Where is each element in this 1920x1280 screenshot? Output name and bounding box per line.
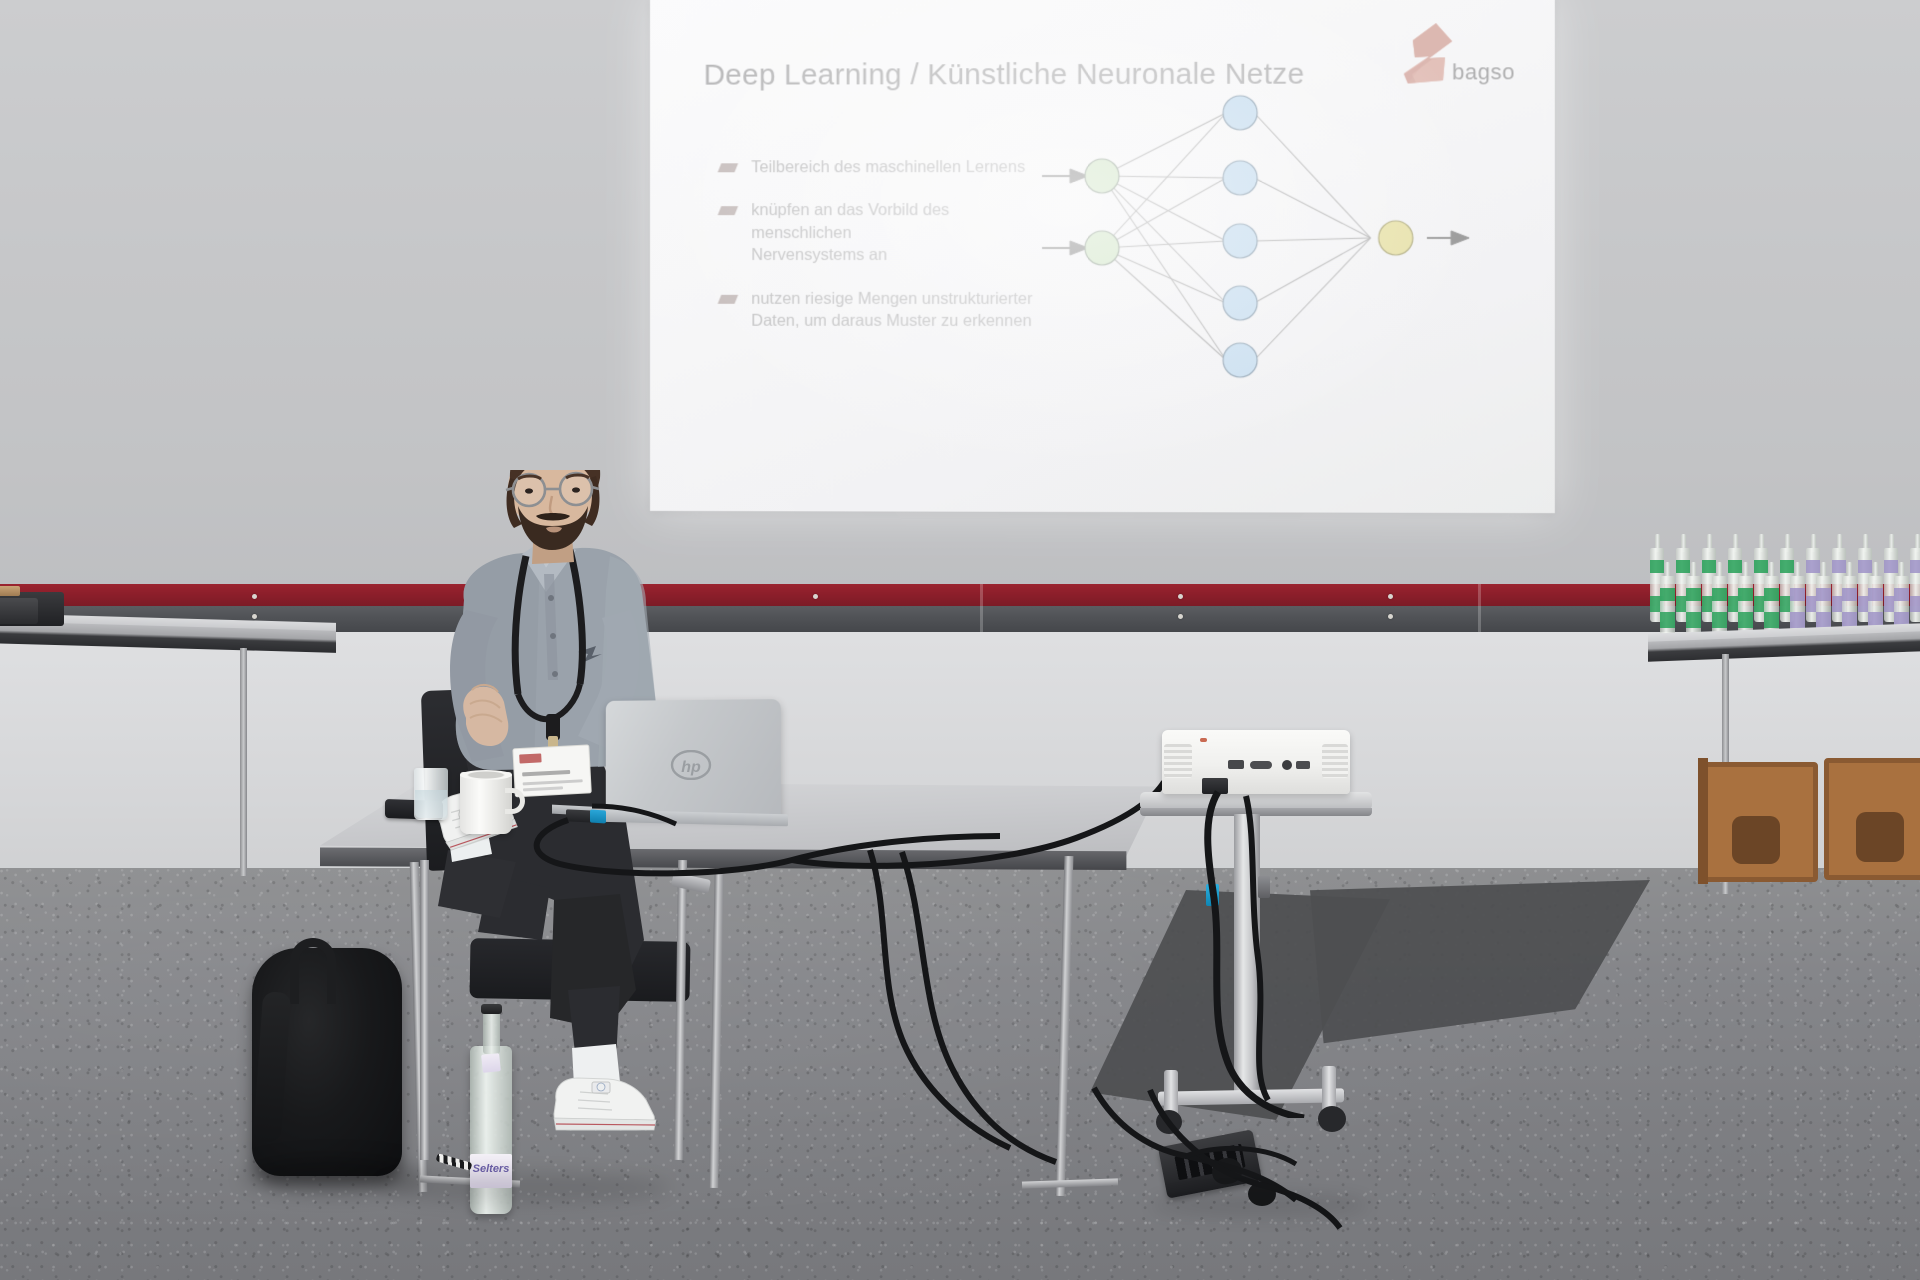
bullet-marker-icon (718, 207, 738, 216)
bagso-logo-text: bagso (1452, 59, 1515, 85)
bottle-label (1858, 560, 1872, 573)
wall-screw (1178, 614, 1183, 619)
bottle-label (1816, 588, 1831, 601)
wall-screw (252, 594, 257, 599)
projector-power-port (1282, 760, 1292, 770)
bottle-label (1738, 612, 1753, 628)
bottle-label (1790, 588, 1805, 601)
bottle-label (1660, 612, 1675, 628)
projector-vent (1322, 744, 1348, 778)
conference-room-scene: Deep Learning / Künstliche Neuronale Net… (0, 0, 1920, 1280)
water-bottle (1712, 576, 1727, 638)
svg-text:hp: hp (681, 759, 701, 776)
hp-logo-icon: hp (670, 750, 712, 780)
water-bottle (1686, 576, 1701, 638)
bullet-text: Teilbereich des maschinellen Lernens (751, 156, 1025, 179)
bottle-label (1806, 560, 1820, 573)
projector-vent (1164, 744, 1192, 778)
projector-port-vga (1250, 761, 1272, 769)
bottle-label (1842, 588, 1857, 601)
table-leg (240, 648, 247, 876)
bottle-label (1650, 560, 1664, 573)
wall-screw (813, 594, 818, 599)
wall-screw (252, 614, 257, 619)
wall-screw (1388, 614, 1393, 619)
bottle-label (1712, 588, 1727, 601)
bottle-label (1910, 596, 1920, 612)
crate-window (1856, 812, 1904, 862)
bullet-marker-icon (718, 163, 738, 172)
backpack-strap (290, 938, 336, 1004)
bottle-label (1686, 612, 1701, 628)
bottle-label (1660, 588, 1675, 601)
bullet-text: knüpfen an das Vorbild des menschlichen … (751, 200, 965, 267)
bottle-label (1832, 560, 1846, 573)
mug-rim (460, 770, 512, 780)
bottle-label (1686, 588, 1701, 601)
bottle-label (1764, 588, 1779, 601)
bottle-label (1702, 560, 1716, 573)
chair-frame (420, 860, 429, 1160)
bottle-label (1816, 612, 1831, 628)
bottle-label (1712, 612, 1727, 628)
water-bottles-row (1648, 532, 1920, 632)
bottle-cap (481, 1004, 502, 1014)
bullet-marker-icon (718, 295, 738, 304)
bottle-label (1894, 588, 1909, 601)
wall-band-red (0, 584, 1920, 606)
bottle-label (1868, 588, 1883, 601)
bottle-label (1790, 612, 1805, 628)
neural-network-diagram (1040, 87, 1481, 398)
crate-divider (1698, 758, 1708, 884)
cables (1184, 788, 1324, 1118)
wall-panel-seam (1478, 584, 1481, 632)
bottle-neck-label (481, 1053, 501, 1073)
water-bottle (1660, 576, 1675, 638)
bottle-neck (483, 1010, 500, 1054)
bagso-logo: bagso (1396, 17, 1525, 89)
wall-screw (1388, 594, 1393, 599)
bottle-label (1884, 560, 1898, 573)
projection-screen: Deep Learning / Künstliche Neuronale Net… (650, 0, 1555, 513)
bottle-label (1764, 612, 1779, 628)
wall-screw (1178, 594, 1183, 599)
projector-port (1228, 760, 1244, 769)
cables (1090, 1080, 1390, 1280)
bottle-label (1910, 560, 1920, 573)
bottle-label (1728, 560, 1742, 573)
wall-panel-seam (980, 584, 983, 632)
shadow (1150, 1192, 1370, 1218)
bottle-label (1754, 560, 1768, 573)
shadow (380, 1172, 670, 1204)
projector-port (1296, 761, 1310, 769)
bullet-text: nutzen riesige Mengen unstrukturierter D… (751, 288, 1080, 333)
projector-indicator (1200, 738, 1207, 742)
bottle-label (1738, 588, 1753, 601)
bottle-label (1780, 560, 1794, 573)
water-bottle (1738, 576, 1753, 638)
crate-window (1732, 816, 1780, 864)
wood-block (0, 586, 20, 596)
bottle-label (1676, 560, 1690, 573)
av-equipment-box (0, 598, 38, 624)
